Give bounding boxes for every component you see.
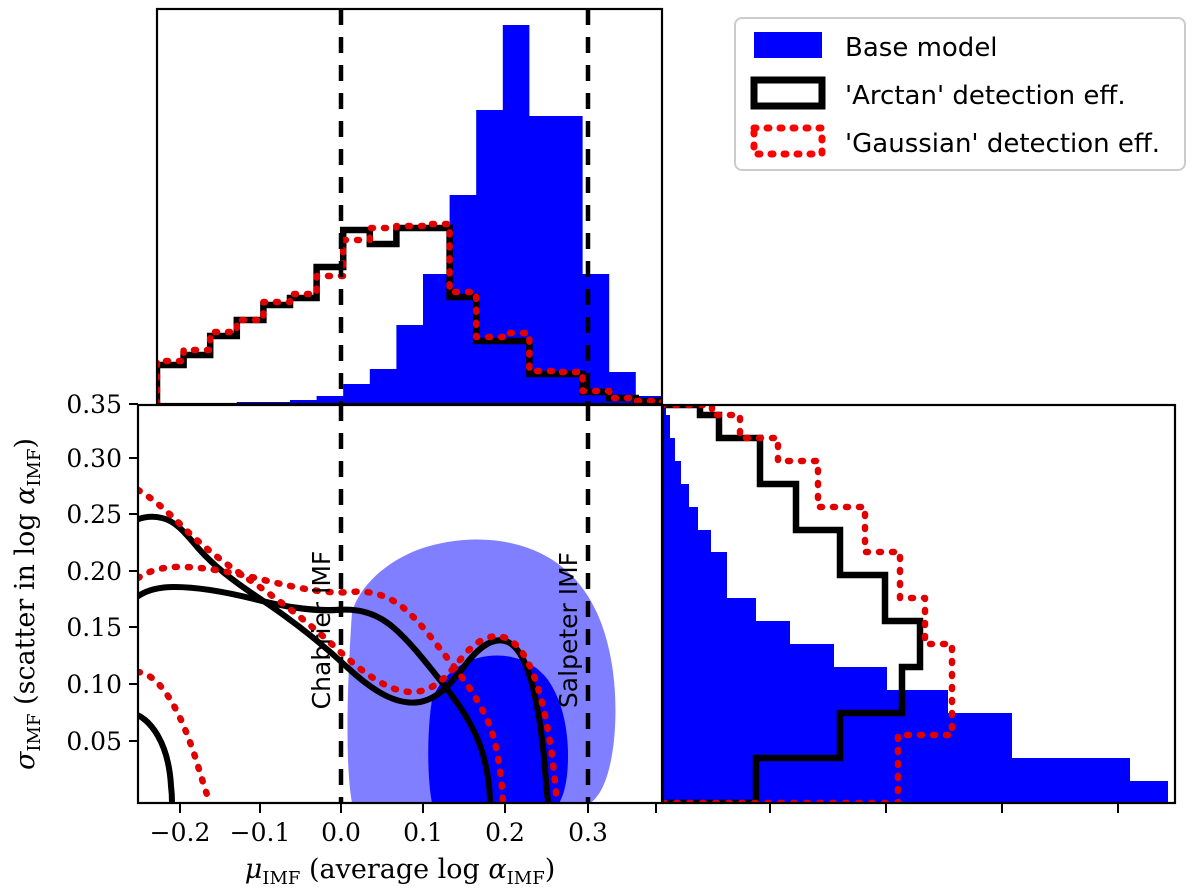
right-panel-bottom-ticks (770, 803, 1118, 813)
legend: Base model 'Arctan' detection eff. 'Gaus… (735, 18, 1185, 170)
y-axis-ticks: 0.35 0.30 0.25 0.20 0.15 0.10 0.05 (66, 390, 138, 756)
corner-plot-figure: Chabrier IMF Salpeter IMF 0.35 0.30 0.25… (0, 0, 1200, 895)
x-title-mu-sub: IMF (262, 868, 300, 889)
joint-contour-panel: Chabrier IMF Salpeter IMF 0.35 0.30 0.25… (66, 390, 662, 847)
legend-swatch-base-model-icon (754, 32, 822, 58)
arctan-left-contour-edge (124, 710, 132, 713)
y-tick-label: 0.20 (66, 557, 122, 586)
y-axis-title: σIMF (scatter in log αIMF) (10, 438, 45, 770)
x-tick-label: 0.3 (568, 818, 608, 847)
legend-label-arctan: 'Arctan' detection eff. (845, 81, 1126, 111)
legend-label-base-model: Base model (845, 33, 998, 63)
x-tick-label: 0.1 (403, 818, 443, 847)
svg-text:μIMF (average log αIMF): μIMF (average log αIMF) (245, 854, 555, 889)
x-axis-ticks: −0.2 −0.1 0.0 0.1 0.2 0.3 (150, 803, 656, 847)
legend-swatch-gaussian-icon (754, 128, 822, 154)
y-tick-label: 0.35 (66, 390, 122, 419)
x-axis-title: μIMF (average log αIMF) (245, 854, 555, 889)
y-tick-label: 0.30 (66, 444, 122, 473)
y-tick-label: 0.10 (66, 670, 122, 699)
right-marginal-panel (663, 405, 1175, 813)
x-tick-label: −0.1 (230, 818, 291, 847)
y-tick-label: 0.05 (66, 727, 122, 756)
x-title-text: (average log (309, 854, 488, 885)
x-tick-label: 0.0 (321, 818, 361, 847)
y-title-alpha: α (10, 487, 41, 505)
x-title-close: ) (545, 854, 556, 885)
svg-text:σIMF (scatter in log αIMF): σIMF (scatter in log αIMF) (10, 438, 45, 770)
x-title-alpha-sub: IMF (507, 868, 545, 889)
y-title-sigma: σ (10, 750, 41, 770)
top-marginal-panel (157, 9, 662, 404)
legend-label-gaussian: 'Gaussian' detection eff. (845, 129, 1160, 159)
y-title-sigma-sub: IMF (24, 714, 45, 752)
x-tick-label: 0.2 (485, 818, 525, 847)
y-tick-label: 0.25 (66, 500, 122, 529)
y-title-text: (scatter in log (10, 505, 41, 705)
y-title-alpha-sub: IMF (24, 449, 45, 487)
legend-swatch-arctan-icon (754, 80, 822, 106)
y-tick-label: 0.15 (66, 613, 122, 642)
y-title-close: ) (10, 438, 41, 449)
salpeter-imf-annotation: Salpeter IMF (554, 552, 583, 708)
x-title-mu: μ (245, 854, 263, 885)
x-title-alpha: α (488, 854, 506, 885)
chabrier-imf-annotation: Chabrier IMF (307, 551, 336, 710)
x-tick-label: −0.2 (150, 818, 211, 847)
